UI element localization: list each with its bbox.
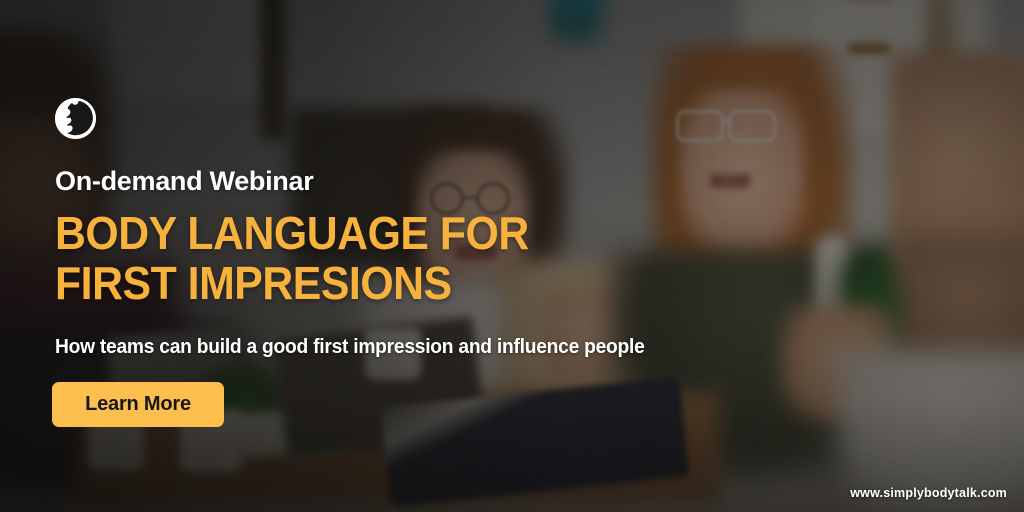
website-url: www.simplybodytalk.com bbox=[850, 486, 1007, 500]
banner-content: On-demand Webinar BODY LANGUAGE FOR FIRS… bbox=[0, 0, 1024, 512]
headline-line-1: BODY LANGUAGE FOR bbox=[55, 207, 529, 259]
face-profile-circle-logo-icon[interactable] bbox=[55, 98, 96, 139]
learn-more-button[interactable]: Learn More bbox=[52, 382, 224, 427]
page-title: BODY LANGUAGE FOR FIRST IMPRESIONS bbox=[55, 208, 529, 308]
subtitle-text: How teams can build a good first impress… bbox=[55, 336, 645, 359]
headline-line-2: FIRST IMPRESIONS bbox=[55, 258, 529, 308]
webinar-promo-banner: On-demand Webinar BODY LANGUAGE FOR FIRS… bbox=[0, 0, 1024, 512]
eyebrow-label: On-demand Webinar bbox=[55, 166, 313, 197]
